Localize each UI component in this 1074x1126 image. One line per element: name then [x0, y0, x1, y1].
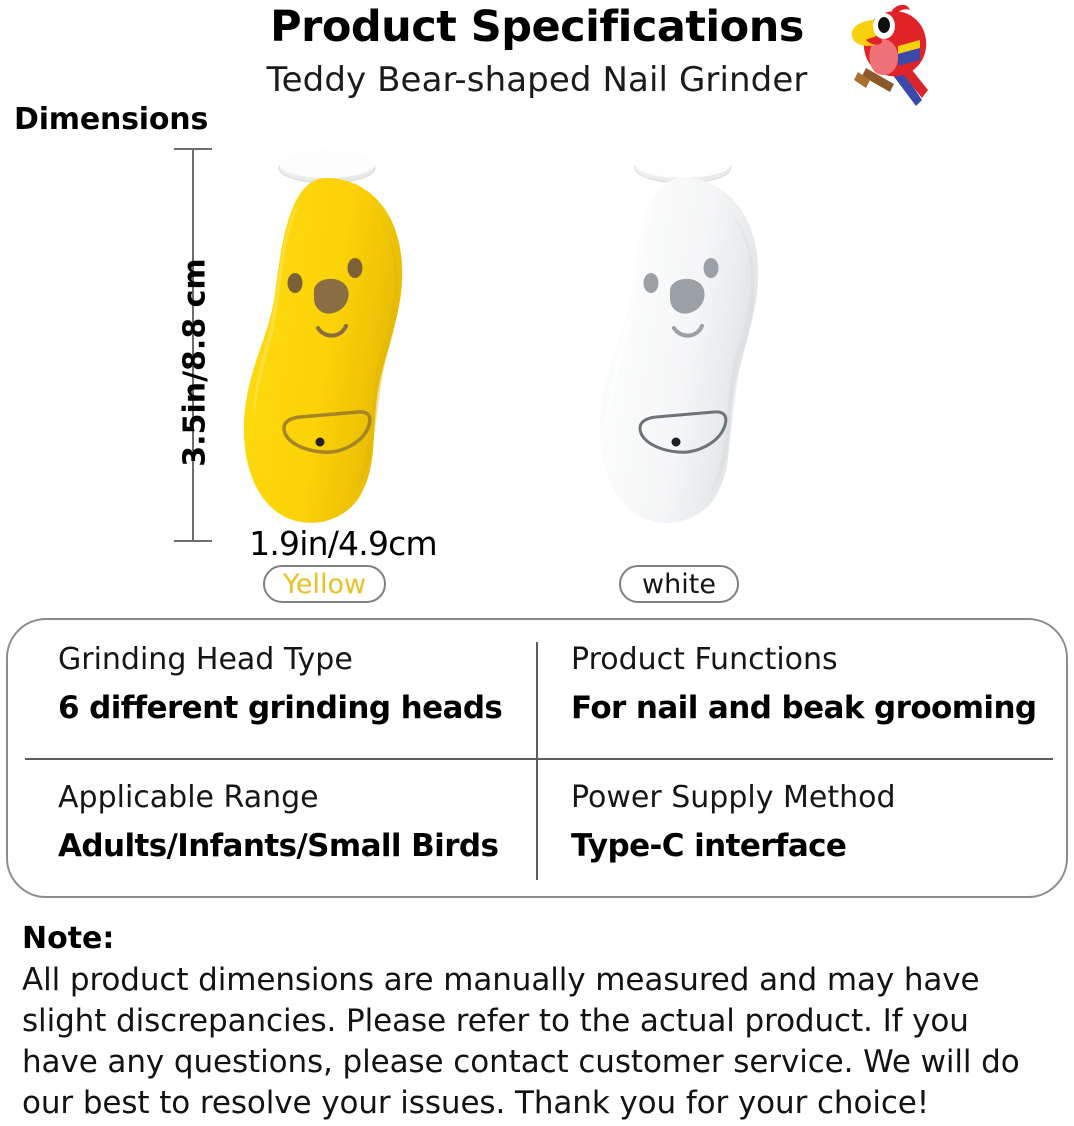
note-heading: Note:: [22, 918, 1052, 960]
specification-table: Grinding Head Type 6 different grinding …: [6, 618, 1068, 898]
width-dimension-annotation: 1.9in/4.9cm: [222, 526, 464, 566]
spec-value: For nail and beak grooming: [571, 682, 1041, 734]
spec-label: Grinding Head Type: [58, 638, 528, 682]
spec-cell-product-functions: Product Functions For nail and beak groo…: [571, 638, 1041, 734]
note-block: Note: All product dimensions are manuall…: [22, 918, 1052, 1124]
spec-value: 6 different grinding heads: [58, 682, 528, 734]
product-images-area: 3.5in/8.8 cm: [0, 130, 1074, 610]
product-image-white: [578, 140, 788, 540]
width-dimension-label: 1.9in/4.9cm: [222, 524, 464, 564]
spec-cell-applicable-range: Applicable Range Adults/Infants/Small Bi…: [58, 776, 528, 872]
spec-value: Adults/Infants/Small Birds: [58, 820, 528, 872]
spec-cell-power-supply-method: Power Supply Method Type-C interface: [571, 776, 1041, 872]
table-horizontal-divider: [25, 758, 1053, 760]
color-label-white[interactable]: white: [619, 565, 739, 603]
product-specification-page: Product Specifications Teddy Bear-shaped…: [0, 0, 1074, 1126]
note-body: All product dimensions are manually meas…: [22, 960, 1052, 1124]
spec-label: Product Functions: [571, 638, 1041, 682]
product-image-yellow: [222, 140, 432, 540]
table-vertical-divider: [536, 642, 538, 880]
color-label-yellow[interactable]: Yellow: [263, 565, 386, 603]
height-dimension-label: 3.5in/8.8 cm: [178, 163, 213, 563]
spec-cell-grinding-head-type: Grinding Head Type 6 different grinding …: [58, 638, 528, 734]
spec-label: Applicable Range: [58, 776, 528, 820]
color-label-yellow-text: Yellow: [283, 569, 366, 600]
color-label-white-text: white: [642, 569, 716, 600]
parrot-icon: [836, 2, 942, 110]
spec-value: Type-C interface: [571, 820, 1041, 872]
spec-label: Power Supply Method: [571, 776, 1041, 820]
